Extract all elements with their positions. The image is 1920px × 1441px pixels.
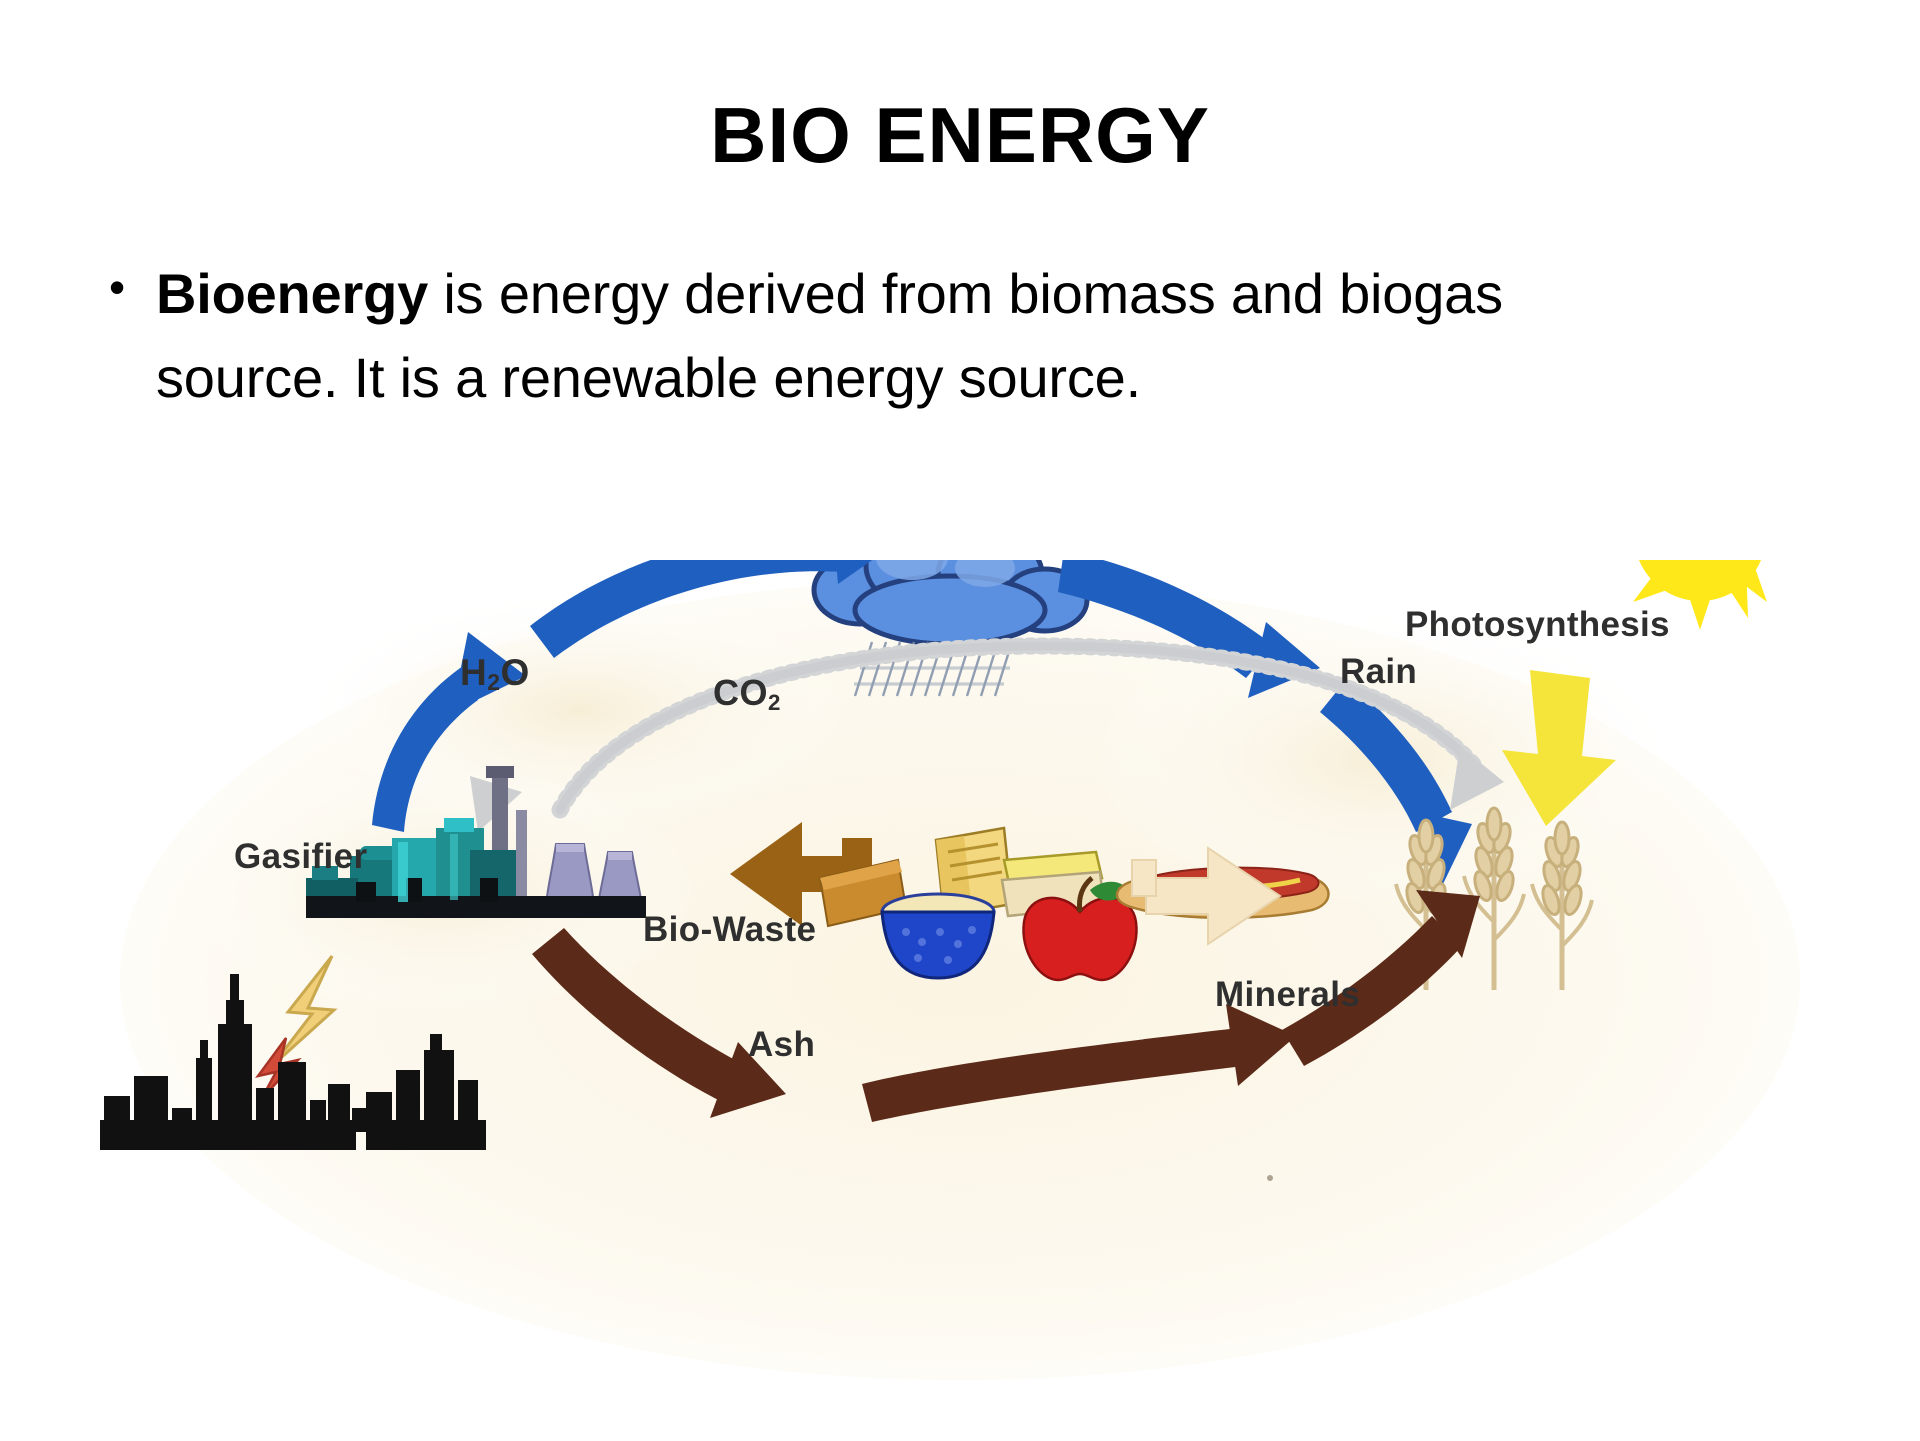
list-item: • Bioenergy is energy derived from bioma… [104, 252, 1604, 420]
label-co2: CO2 [713, 672, 781, 716]
label-ash: Ash [748, 1025, 815, 1065]
bullet-marker: • [104, 252, 130, 322]
diagram-canvas [60, 560, 1860, 1390]
label-bio-waste: Bio-Waste [643, 910, 816, 950]
label-gasifier: Gasifier [234, 837, 368, 877]
page-title: BIO ENERGY [0, 96, 1920, 174]
slide-root: BIO ENERGY • Bioenergy is energy derived… [0, 0, 1920, 1441]
bullet-list: • Bioenergy is energy derived from bioma… [104, 252, 1604, 420]
bullet-body: Bioenergy is energy derived from biomass… [156, 252, 1604, 420]
bioenergy-cycle-diagram: H2O CO2 Photosynthesis Rain Gasifier Bio… [60, 560, 1860, 1390]
label-h2o: H2O [460, 652, 530, 696]
label-photosynthesis: Photosynthesis [1405, 605, 1670, 645]
label-minerals: Minerals [1215, 975, 1360, 1015]
speck [1267, 1175, 1273, 1181]
bullet-bold-lead: Bioenergy [156, 262, 428, 325]
label-rain: Rain [1340, 652, 1417, 692]
